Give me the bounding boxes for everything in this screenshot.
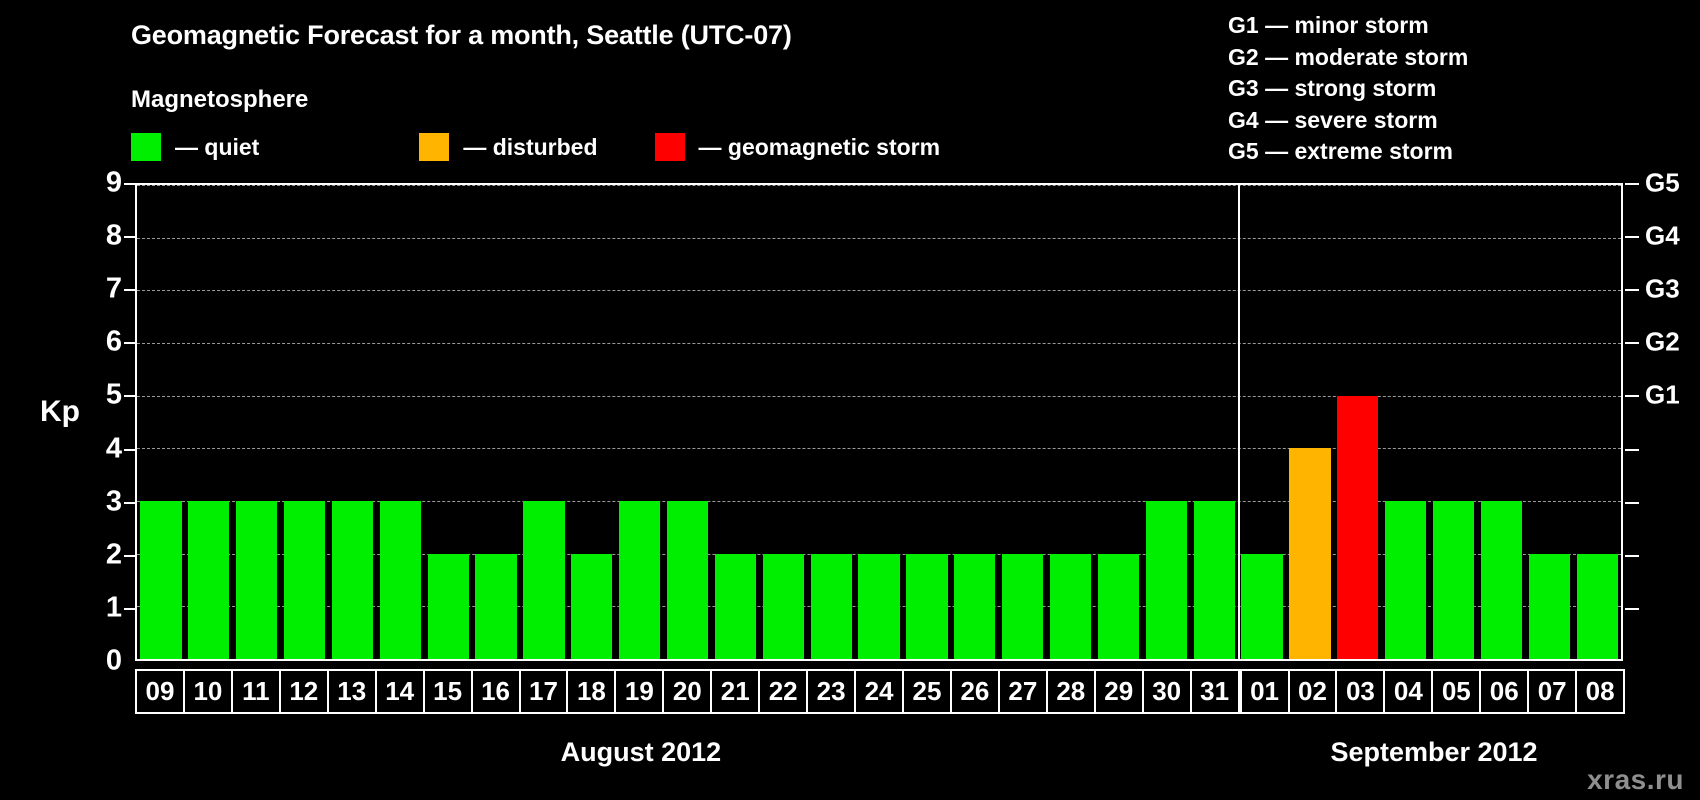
page-title: Geomagnetic Forecast for a month, Seattl… [131,20,792,51]
day-label-10[interactable]: 10 [183,669,233,714]
legend-swatch-quiet [131,133,161,161]
bar-16[interactable] [475,554,516,659]
day-label-07[interactable]: 07 [1527,669,1577,714]
g-axis-tick-g5 [1625,183,1639,185]
storm-scale-g1: G1 — minor storm [1228,10,1468,42]
bar-cell[interactable] [1047,185,1095,659]
bar-cell[interactable] [1382,185,1430,659]
day-label-29[interactable]: 29 [1094,669,1144,714]
g-axis-tick-g1 [1625,395,1639,397]
day-label-18[interactable]: 18 [566,669,616,714]
g-axis-label-g3: G3 [1645,274,1680,305]
bar-20[interactable] [667,501,708,659]
day-label-16[interactable]: 16 [471,669,521,714]
day-label-19[interactable]: 19 [614,669,664,714]
day-label-26[interactable]: 26 [950,669,1000,714]
day-label-04[interactable]: 04 [1383,669,1433,714]
y-tick-9 [124,183,135,185]
storm-scale-legend: G1 — minor storm G2 — moderate storm G3 … [1228,10,1468,168]
bar-31[interactable] [1194,501,1235,659]
day-label-27[interactable]: 27 [998,669,1048,714]
day-label-11[interactable]: 11 [231,669,281,714]
bar-cell[interactable] [616,185,664,659]
legend-item-disturbed: — disturbed [419,133,597,161]
day-label-14[interactable]: 14 [375,669,425,714]
day-label-01[interactable]: 01 [1240,669,1290,714]
bar-21[interactable] [715,554,756,659]
bar-28[interactable] [1050,554,1091,659]
bar-12[interactable] [284,501,325,659]
day-label-08[interactable]: 08 [1575,669,1625,714]
bar-06[interactable] [1481,501,1522,659]
day-label-12[interactable]: 12 [279,669,329,714]
g-axis-minor-tick-1 [1625,608,1639,610]
bar-cell[interactable] [1334,185,1382,659]
y-tick-8 [124,236,135,238]
bar-23[interactable] [811,554,852,659]
bar-cell[interactable] [137,185,185,659]
bar-cell[interactable] [185,185,233,659]
bar-22[interactable] [763,554,804,659]
day-label-30[interactable]: 30 [1142,669,1192,714]
bar-cell[interactable] [855,185,903,659]
day-label-22[interactable]: 22 [758,669,808,714]
day-label-17[interactable]: 17 [519,669,569,714]
y-tick-label-4: 4 [82,432,122,465]
g-axis-label-g4: G4 [1645,221,1680,252]
bar-cell[interactable] [1142,185,1190,659]
day-label-24[interactable]: 24 [854,669,904,714]
bar-cell[interactable] [472,185,520,659]
bar-cell[interactable] [1573,185,1621,659]
day-label-21[interactable]: 21 [710,669,760,714]
month-label: August 2012 [561,737,722,768]
y-tick-label-7: 7 [82,273,122,306]
y-tick-label-2: 2 [82,538,122,571]
legend-item-storm: — geomagnetic storm [655,133,941,161]
g-axis-minor-tick-3 [1625,502,1639,504]
g-axis-label-g1: G1 [1645,380,1680,411]
y-tick-2 [124,555,135,557]
legend-label-storm: — geomagnetic storm [699,134,941,161]
day-axis: 0910111213141516171819202122232425262728… [135,669,1623,714]
bar-cell[interactable] [1190,185,1238,659]
y-tick-label-9: 9 [82,167,122,200]
day-label-23[interactable]: 23 [806,669,856,714]
month-label: September 2012 [1330,737,1537,768]
bar-cell[interactable] [999,185,1047,659]
bar-02[interactable] [1289,448,1330,659]
bar-10[interactable] [188,501,229,659]
bar-cell[interactable] [712,185,760,659]
bar-cell[interactable] [568,185,616,659]
watermark: xras.ru [1587,764,1684,796]
bar-cell[interactable] [903,185,951,659]
g-axis-minor-tick-2 [1625,555,1639,557]
day-label-02[interactable]: 02 [1288,669,1338,714]
bar-cell[interactable] [951,185,999,659]
bar-cell[interactable] [1238,185,1286,659]
y-tick-label-8: 8 [82,220,122,253]
bar-29[interactable] [1098,554,1139,659]
storm-scale-g3: G3 — strong storm [1228,73,1468,105]
bar-cell[interactable] [1095,185,1143,659]
bar-18[interactable] [571,554,612,659]
bar-19[interactable] [619,501,660,659]
legend-swatch-disturbed [419,133,449,161]
g-axis-tick-g2 [1625,342,1639,344]
bar-03[interactable] [1337,396,1378,659]
y-tick-label-1: 1 [82,591,122,624]
bar-cell[interactable] [329,185,377,659]
bar-cell[interactable] [281,185,329,659]
plot-area [135,183,1623,661]
day-label-06[interactable]: 06 [1479,669,1529,714]
bar-cell[interactable] [807,185,855,659]
bar-14[interactable] [380,501,421,659]
bar-17[interactable] [523,501,564,659]
y-tick-7 [124,289,135,291]
bar-15[interactable] [428,554,469,659]
y-tick-4 [124,449,135,451]
day-label-20[interactable]: 20 [662,669,712,714]
bar-07[interactable] [1529,554,1570,659]
bar-24[interactable] [858,554,899,659]
day-label-09[interactable]: 09 [135,669,185,714]
bar-26[interactable] [954,554,995,659]
g-axis-minor-tick-4 [1625,449,1639,451]
bar-09[interactable] [140,501,181,659]
bar-05[interactable] [1433,501,1474,659]
y-tick-label-3: 3 [82,485,122,518]
day-label-28[interactable]: 28 [1046,669,1096,714]
y-tick-3 [124,502,135,504]
day-label-05[interactable]: 05 [1431,669,1481,714]
bar-series [137,185,1621,659]
legend-label-quiet: — quiet [175,134,259,161]
bar-13[interactable] [332,501,373,659]
storm-scale-g4: G4 — severe storm [1228,105,1468,137]
magnetosphere-label: Magnetosphere [131,86,308,114]
y-tick-label-6: 6 [82,326,122,359]
legend-label-disturbed: — disturbed [463,134,597,161]
day-label-15[interactable]: 15 [423,669,473,714]
bar-25[interactable] [906,554,947,659]
g-axis-label-g2: G2 [1645,327,1680,358]
bar-cell[interactable] [376,185,424,659]
bar-cell[interactable] [1286,185,1334,659]
y-tick-1 [124,608,135,610]
day-label-31[interactable]: 31 [1190,669,1240,714]
g-axis-label-g5: G5 [1645,168,1680,199]
day-label-13[interactable]: 13 [327,669,377,714]
legend-swatch-storm [655,133,685,161]
day-label-25[interactable]: 25 [902,669,952,714]
bar-08[interactable] [1577,554,1618,659]
bar-cell[interactable] [424,185,472,659]
bar-cell[interactable] [759,185,807,659]
day-label-03[interactable]: 03 [1335,669,1385,714]
g-axis-tick-g4 [1625,236,1639,238]
magnetosphere-legend: — quiet — disturbed — geomagnetic storm [131,133,940,161]
bar-cell[interactable] [233,185,281,659]
bar-11[interactable] [236,501,277,659]
bar-cell[interactable] [1525,185,1573,659]
geomagnetic-forecast-chart: Geomagnetic Forecast for a month, Seattl… [0,0,1700,800]
g-axis-tick-g3 [1625,289,1639,291]
y-tick-label-5: 5 [82,379,122,412]
y-tick-label-0: 0 [82,645,122,678]
y-tick-6 [124,342,135,344]
y-axis-title: Kp [40,395,80,429]
bar-04[interactable] [1385,501,1426,659]
storm-scale-g5: G5 — extreme storm [1228,136,1468,168]
bar-27[interactable] [1002,554,1043,659]
bar-30[interactable] [1146,501,1187,659]
bar-cell[interactable] [664,185,712,659]
y-tick-5 [124,395,135,397]
bar-01[interactable] [1241,554,1282,659]
bar-cell[interactable] [1478,185,1526,659]
legend-item-quiet: — quiet [131,133,259,161]
bar-cell[interactable] [1430,185,1478,659]
bar-cell[interactable] [520,185,568,659]
storm-scale-g2: G2 — moderate storm [1228,42,1468,74]
